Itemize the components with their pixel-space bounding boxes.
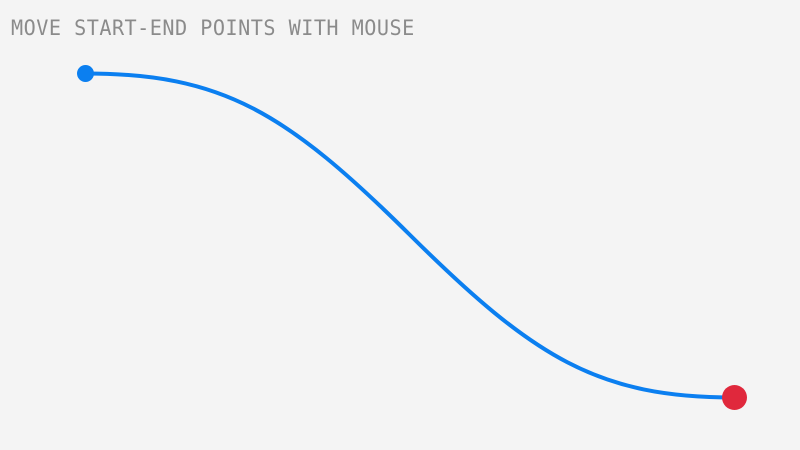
curve-editor-canvas[interactable]: MOVE START-END POINTS WITH MOUSE xyxy=(0,0,800,450)
curve-svg[interactable] xyxy=(0,0,800,450)
end-point-handle[interactable] xyxy=(722,385,747,410)
curve-drawing-surface[interactable] xyxy=(0,0,800,450)
start-point-handle[interactable] xyxy=(77,65,94,82)
bezier-curve-path xyxy=(86,74,735,398)
